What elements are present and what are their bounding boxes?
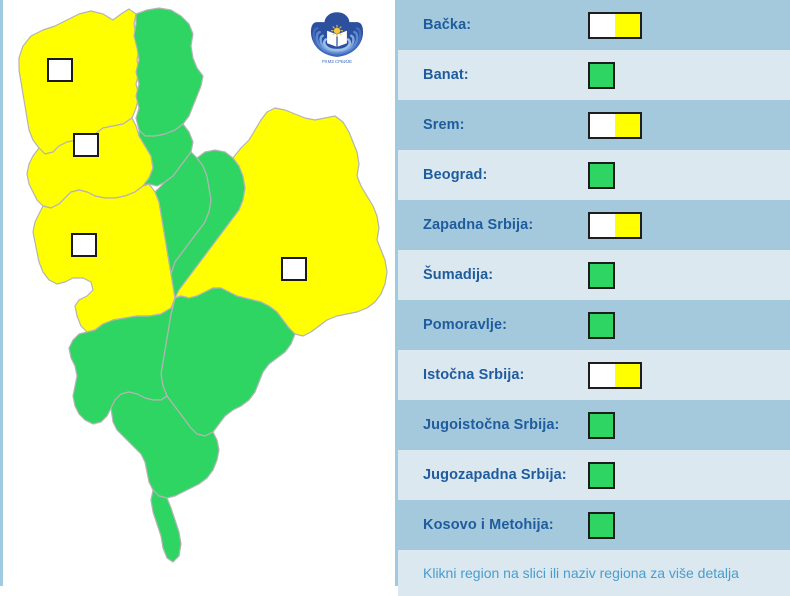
marker-istocna-srbija[interactable] xyxy=(281,257,307,281)
map-region-banat[interactable] xyxy=(134,8,203,136)
alert-level-swatch xyxy=(615,112,642,139)
serbia-regions-map[interactable] xyxy=(3,0,398,586)
alert-level-swatch xyxy=(588,512,615,539)
region-status xyxy=(588,512,615,539)
region-status xyxy=(588,162,615,189)
region-status xyxy=(588,262,615,289)
region-name-label[interactable]: Beograd: xyxy=(423,167,588,183)
alert-level-swatch xyxy=(588,312,615,339)
region-name-label[interactable]: Banat: xyxy=(423,67,588,83)
logo-caption: РХМЗ СРБИЈЕ xyxy=(322,59,352,64)
footer-note: Klikni region na slici ili naziv regiona… xyxy=(398,550,790,596)
alert-level-swatch xyxy=(588,412,615,439)
region-row[interactable]: Zapadna Srbija: xyxy=(398,200,790,250)
region-status xyxy=(588,412,615,439)
map-region-kosovo-tail[interactable] xyxy=(151,490,181,562)
map-region-jugoistocna-srbija[interactable] xyxy=(161,288,295,436)
region-name-label[interactable]: Zapadna Srbija: xyxy=(423,217,588,233)
map-panel: РХМЗ СРБИЈЕ xyxy=(0,0,398,586)
region-name-label[interactable]: Pomoravlje: xyxy=(423,317,588,333)
alert-level-swatch xyxy=(588,162,615,189)
region-name-label[interactable]: Kosovo i Metohija: xyxy=(423,517,588,533)
region-status xyxy=(588,212,642,239)
weather-icon-box xyxy=(588,212,615,239)
region-name-label[interactable]: Srem: xyxy=(423,117,588,133)
region-name-label[interactable]: Jugoistočna Srbija: xyxy=(423,417,588,433)
weather-icon-box xyxy=(588,112,615,139)
region-row[interactable]: Banat: xyxy=(398,50,790,100)
warnings-page: РХМЗ СРБИЈЕ Bačka:Banat:Srem:Beograd:Zap… xyxy=(0,0,790,586)
region-status xyxy=(588,62,615,89)
alert-level-swatch xyxy=(615,362,642,389)
region-row[interactable]: Srem: xyxy=(398,100,790,150)
footer-note-text: Klikni region na slici ili naziv regiona… xyxy=(423,565,739,581)
region-row[interactable]: Jugozapadna Srbija: xyxy=(398,450,790,500)
marker-backa[interactable] xyxy=(47,58,73,82)
region-row[interactable]: Beograd: xyxy=(398,150,790,200)
region-status xyxy=(588,12,642,39)
region-rows: Bačka:Banat:Srem:Beograd:Zapadna Srbija:… xyxy=(398,0,790,550)
region-row[interactable]: Istočna Srbija: xyxy=(398,350,790,400)
map-region-zapadna-srbija[interactable] xyxy=(33,184,175,332)
region-name-label[interactable]: Jugozapadna Srbija: xyxy=(423,467,588,483)
region-status xyxy=(588,462,615,489)
alert-level-swatch xyxy=(615,12,642,39)
alert-level-swatch xyxy=(588,62,615,89)
alert-level-swatch xyxy=(588,462,615,489)
region-status xyxy=(588,112,642,139)
region-row[interactable]: Pomoravlje: xyxy=(398,300,790,350)
region-name-label[interactable]: Istočna Srbija: xyxy=(423,367,588,383)
alert-level-swatch xyxy=(615,212,642,239)
region-status xyxy=(588,362,642,389)
region-name-label[interactable]: Šumadija: xyxy=(423,267,588,283)
region-name-label[interactable]: Bačka: xyxy=(423,17,588,33)
marker-srem[interactable] xyxy=(73,133,99,157)
weather-icon-box xyxy=(588,362,615,389)
weather-icon-box xyxy=(588,12,615,39)
region-status xyxy=(588,312,615,339)
region-row[interactable]: Šumadija: xyxy=(398,250,790,300)
rhmz-logo: РХМЗ СРБИЈЕ xyxy=(306,6,368,68)
region-row[interactable]: Jugoistočna Srbija: xyxy=(398,400,790,450)
marker-zapadna-srbija[interactable] xyxy=(71,233,97,257)
region-list-panel: Bačka:Banat:Srem:Beograd:Zapadna Srbija:… xyxy=(395,0,790,586)
region-row[interactable]: Kosovo i Metohija: xyxy=(398,500,790,550)
region-row[interactable]: Bačka: xyxy=(398,0,790,50)
alert-level-swatch xyxy=(588,262,615,289)
